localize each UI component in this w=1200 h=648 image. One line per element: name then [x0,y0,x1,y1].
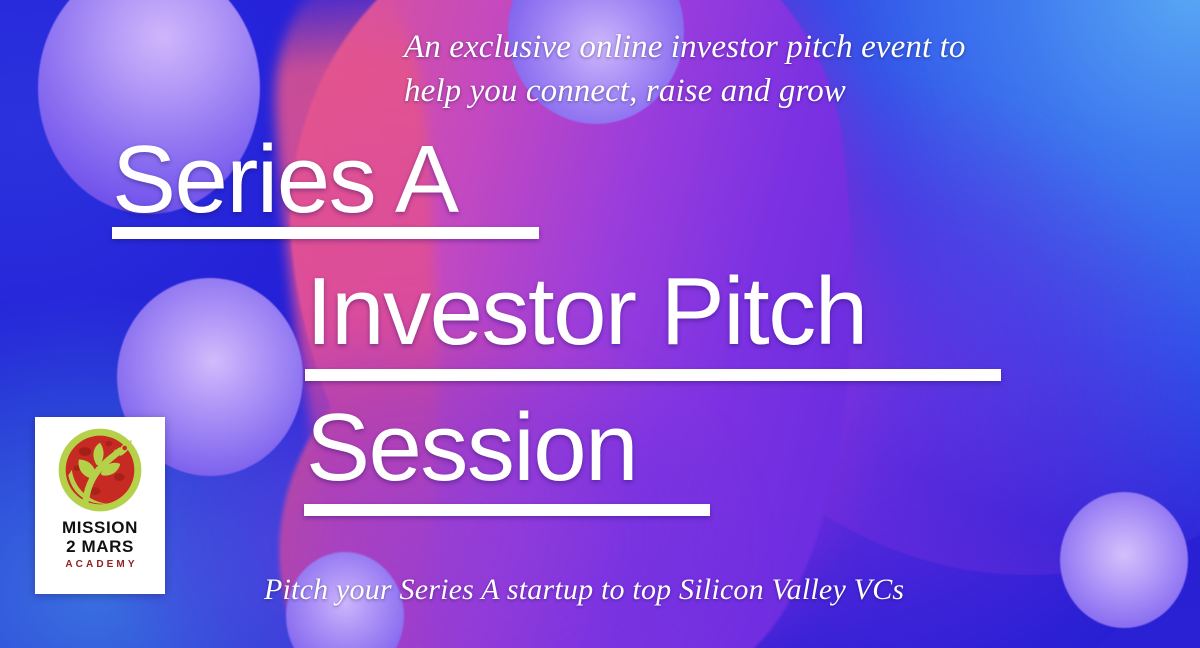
headline-line-investor-pitch: Investor Pitch [306,264,867,360]
event-tagline-top: An exclusive online investor pitch event… [404,26,1164,113]
headline-underline-3 [304,504,710,516]
event-tagline-bottom: Pitch your Series A startup to top Silic… [264,572,1164,608]
headline-underline-1 [112,227,539,239]
mission-2-mars-academy-logo: MISSION 2 MARS ACADEMY [35,417,165,594]
headline-line-session: Session [306,400,637,496]
headline-line-series-a: Series A [112,132,458,228]
logo-wordmark: MISSION 2 MARS ACADEMY [62,518,138,570]
logo-word-mission: MISSION [62,518,138,537]
logo-word-academy: ACADEMY [62,560,138,570]
logo-word-2-mars: 2 MARS [62,537,138,556]
event-banner: An exclusive online investor pitch event… [0,0,1200,648]
mars-plant-rocket-icon [56,426,144,514]
headline-underline-2 [305,369,1001,381]
